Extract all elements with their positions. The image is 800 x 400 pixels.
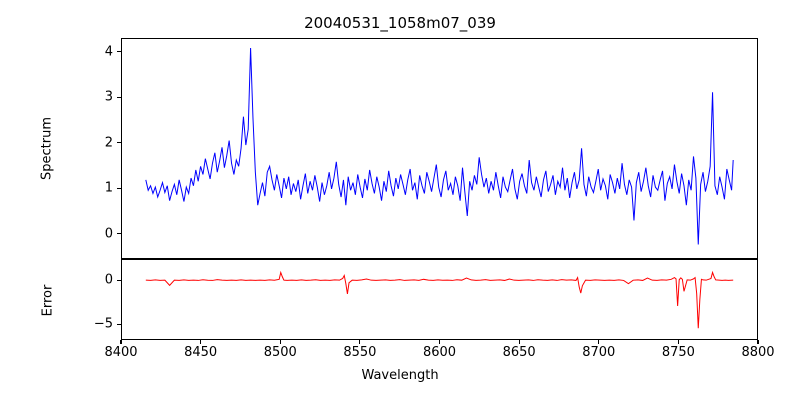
error-line-series: [122, 260, 757, 339]
x-tickmark: [598, 340, 599, 344]
x-tick-label: 8500: [245, 345, 315, 360]
x-tickmark: [519, 340, 520, 344]
x-axis-label: Wavelength: [0, 368, 800, 383]
x-tick-label: 8750: [643, 345, 713, 360]
x-tick-label: 8600: [405, 345, 475, 360]
x-tick-label: 8400: [86, 345, 156, 360]
error-y-tickmark: [117, 280, 121, 281]
x-tickmark: [359, 340, 360, 344]
x-tickmark: [280, 340, 281, 344]
spectrum-y-tick-label: 3: [73, 90, 113, 105]
spectrum-line-series: [122, 39, 757, 258]
matplotlib-figure: 20040531_1058m07_039 8400845085008550860…: [0, 0, 800, 400]
spectrum-y-tickmark: [117, 142, 121, 143]
x-tickmark: [757, 340, 758, 344]
spectrum-y-axis-label: Spectrum: [40, 89, 55, 209]
error-panel-path: [146, 272, 733, 328]
error-y-tick-label: −5: [73, 317, 113, 332]
error-plot-panel: [121, 259, 758, 340]
x-tickmark: [200, 340, 201, 344]
x-tick-label: 8700: [564, 345, 634, 360]
x-tickmark: [678, 340, 679, 344]
error-y-tickmark: [117, 324, 121, 325]
spectrum-y-tickmark: [117, 97, 121, 98]
spectrum-y-tickmark: [117, 233, 121, 234]
error-y-axis-label: Error: [41, 251, 56, 351]
x-tick-label: 8550: [325, 345, 395, 360]
spectrum-y-tick-label: 0: [73, 226, 113, 241]
x-tick-label: 8800: [723, 345, 793, 360]
spectrum-panel-path: [146, 48, 733, 244]
spectrum-y-tick-label: 1: [73, 181, 113, 196]
spectrum-y-tickmark: [117, 51, 121, 52]
x-tickmark: [439, 340, 440, 344]
x-tick-label: 8650: [484, 345, 554, 360]
x-tickmark: [120, 340, 121, 344]
spectrum-y-tickmark: [117, 188, 121, 189]
error-y-tick-label: 0: [73, 273, 113, 288]
page-title: 20040531_1058m07_039: [0, 14, 800, 32]
spectrum-y-tick-label: 2: [73, 135, 113, 150]
x-tick-label: 8450: [166, 345, 236, 360]
spectrum-plot-panel: [121, 38, 758, 259]
spectrum-y-tick-label: 4: [73, 44, 113, 59]
